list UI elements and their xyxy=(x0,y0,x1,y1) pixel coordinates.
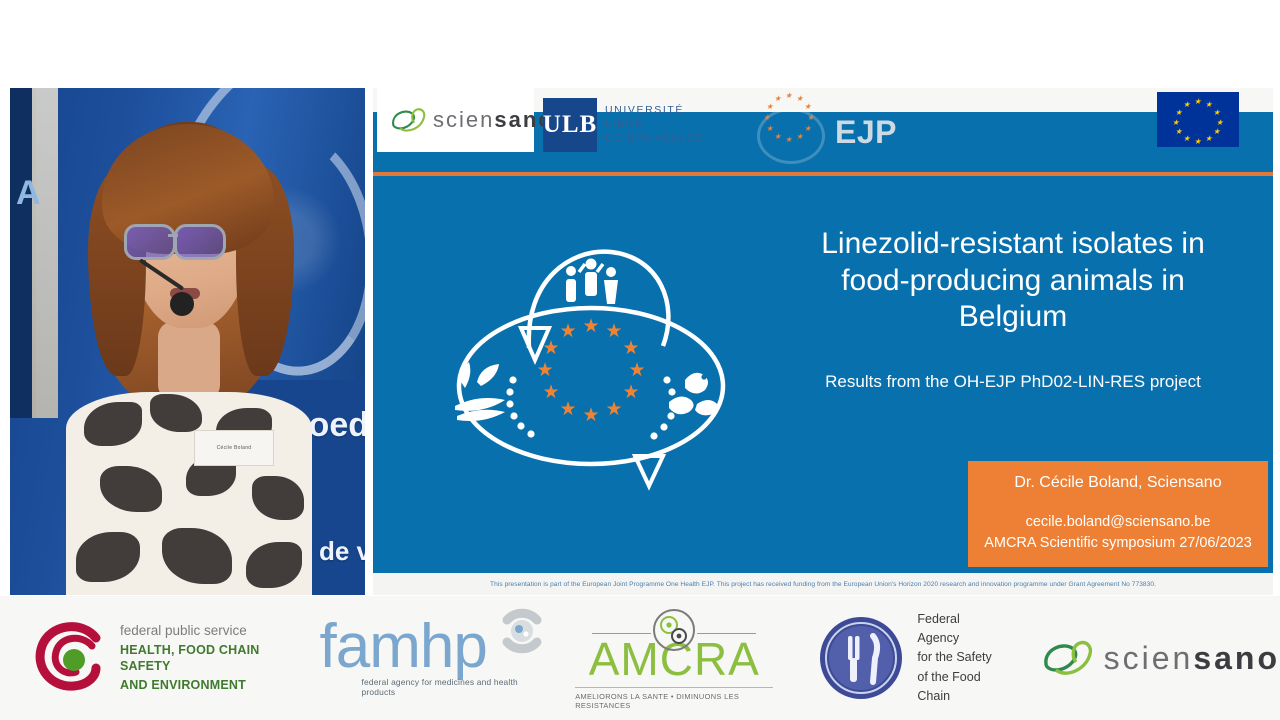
fps-line-2: HEALTH, FOOD CHAIN SAFETY xyxy=(120,642,284,674)
fps-spiral-icon xyxy=(30,616,116,700)
ulb-line-1: UNIVERSITÉ xyxy=(605,104,704,118)
eu-stars-circle: ★★★ ★★★ ★★★ ★★★ xyxy=(536,316,645,426)
svg-text:★: ★ xyxy=(536,360,553,381)
speaker-video-feed[interactable]: A oed ht over de v Cécile Boland xyxy=(10,88,365,595)
fasfc-line-2: for the Safety xyxy=(917,648,995,667)
svg-text:★: ★ xyxy=(582,405,599,426)
banner-text-line-1: oed xyxy=(309,406,365,445)
svg-text:★: ★ xyxy=(628,360,645,381)
event-name: AMCRA Scientific symposium 27/06/2023 xyxy=(968,533,1268,554)
ejp-wordmark: EJP xyxy=(835,114,897,151)
ulb-line-2: LIBRE xyxy=(605,118,704,132)
name-badge: Cécile Boland xyxy=(194,430,274,466)
svg-text:★: ★ xyxy=(542,382,559,403)
amcra-circles-icon xyxy=(651,607,697,653)
sciensano-logo-header: sciensano xyxy=(377,88,534,152)
headset-mic-icon xyxy=(170,292,194,316)
header-divider-rule xyxy=(373,172,1273,176)
svg-text:★: ★ xyxy=(582,316,599,337)
neck xyxy=(158,321,220,401)
glasses-left-lens xyxy=(124,224,176,260)
title-line-1: Linezolid-resistant isolates in xyxy=(821,227,1205,260)
speaker-info-box: Dr. Cécile Boland, Sciensano cecile.bola… xyxy=(968,461,1268,567)
presentation-slide[interactable]: sciensano ULB UNIVERSITÉ LIBRE DE BRUXEL… xyxy=(373,88,1273,595)
funding-disclaimer: This presentation is part of the Europea… xyxy=(490,581,1156,588)
glasses-bridge xyxy=(168,234,178,237)
fasfc-line-3: of the Food Chain xyxy=(917,668,995,707)
speaker-person: Cécile Boland xyxy=(62,106,312,595)
fasfc-logo: Federal Agency for the Safety of the Foo… xyxy=(817,596,995,720)
ejp-logo-header: ★★★ ★★★ ★★★ ★★★ EJP xyxy=(753,90,973,170)
ulb-logo: ULB UNIVERSITÉ LIBRE DE BRUXELLES xyxy=(543,98,704,152)
ulb-fullname: UNIVERSITÉ LIBRE DE BRUXELLES xyxy=(605,104,704,146)
plants-crops-icon xyxy=(455,362,505,421)
eu-flag-icon: ★★★ ★★★ ★★★ ★★★ xyxy=(1157,92,1239,147)
title-line-2: food-producing animals in xyxy=(841,264,1185,297)
title-block: Linezolid-resistant isolates in food-pro… xyxy=(773,226,1253,392)
fps-text: federal public service HEALTH, FOOD CHAI… xyxy=(120,623,284,693)
fork-knife-circle-icon xyxy=(817,614,905,702)
svg-text:★: ★ xyxy=(605,399,622,420)
title-line-3: Belgium xyxy=(959,300,1067,333)
speaker-name: Dr. Cécile Boland, Sciensano xyxy=(968,474,1268,492)
glasses-right-lens xyxy=(174,224,226,260)
speaker-email[interactable]: cecile.boland@sciensano.be xyxy=(968,512,1268,533)
fps-line-1: federal public service xyxy=(120,623,284,639)
svg-text:★: ★ xyxy=(559,399,576,420)
backdrop-letter: A xyxy=(16,174,42,213)
people-icon xyxy=(566,259,618,305)
fasfc-line-1: Federal Agency xyxy=(917,610,995,649)
slide-footer: This presentation is part of the Europea… xyxy=(373,573,1273,595)
partner-logo-bar: federal public service HEALTH, FOOD CHAI… xyxy=(0,596,1280,720)
sciensano-wordmark: sciensano xyxy=(433,107,554,133)
animals-icon xyxy=(669,373,718,416)
ulb-line-3: DE BRUXELLES xyxy=(605,132,704,146)
famhp-subtitle: federal agency for medicines and health … xyxy=(362,677,530,697)
svg-text:★: ★ xyxy=(542,338,559,359)
famhp-pill-icon xyxy=(493,602,551,660)
screen: A oed ht over de v Cécile Boland xyxy=(0,0,1280,720)
sciensano-leaf-icon xyxy=(389,103,431,137)
sciensano-leaf-icon xyxy=(1040,633,1100,683)
ulb-abbr: ULB xyxy=(543,98,597,152)
one-health-ejp-diagram-icon: ★★★ ★★★ ★★★ ★★★ xyxy=(421,228,761,508)
ejp-stars-icon: ★★★ ★★★ ★★★ ★★★ xyxy=(763,92,815,144)
svg-text:★: ★ xyxy=(605,321,622,342)
fps-logo: federal public service HEALTH, FOOD CHAI… xyxy=(30,596,284,720)
amcra-logo: AMCRA AMELIORONS LA SANTE • DIMINUONS LE… xyxy=(575,596,773,720)
slide-title: Linezolid-resistant isolates in food-pro… xyxy=(773,226,1253,336)
name-badge-text: Cécile Boland xyxy=(217,445,252,451)
fasfc-text: Federal Agency for the Safety of the Foo… xyxy=(917,610,995,707)
fps-line-3: AND ENVIRONMENT xyxy=(120,677,284,693)
backdrop-light-stripe xyxy=(32,88,58,418)
sciensano-wordmark: sciensano xyxy=(1104,640,1280,677)
svg-text:★: ★ xyxy=(622,338,639,359)
amcra-subtitle: AMELIORONS LA SANTE • DIMINUONS LES RESI… xyxy=(575,687,773,710)
svg-text:★: ★ xyxy=(559,321,576,342)
slide-subtitle: Results from the OH-EJP PhD02-LIN-RES pr… xyxy=(773,372,1253,392)
floral-top: Cécile Boland xyxy=(66,392,312,595)
famhp-logo: famhp federal agency for medicines and h… xyxy=(320,596,530,720)
svg-text:★: ★ xyxy=(622,382,639,403)
sciensano-logo-bottom: sciensano xyxy=(1040,596,1280,720)
